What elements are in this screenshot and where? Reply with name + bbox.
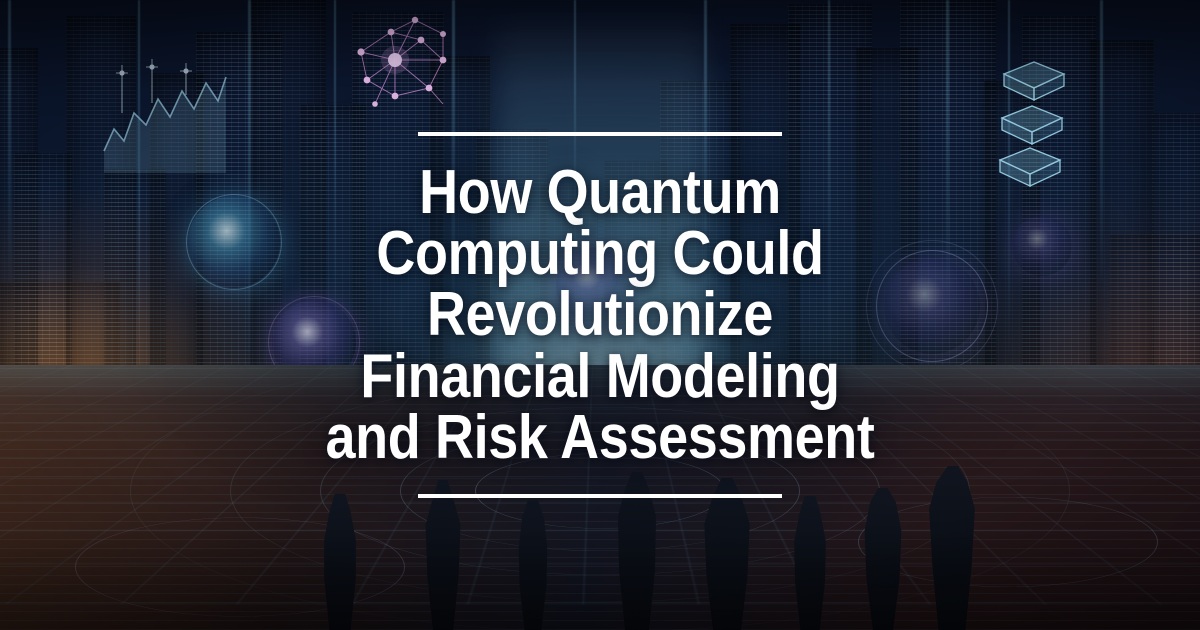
divider-rule-bottom xyxy=(418,494,782,498)
page-title: How Quantum Computing Could Revolutioniz… xyxy=(296,162,905,469)
banner-content: How Quantum Computing Could Revolutioniz… xyxy=(0,0,1200,630)
social-banner-card: How Quantum Computing Could Revolutioniz… xyxy=(0,0,1200,630)
divider-rule-top xyxy=(418,132,782,136)
